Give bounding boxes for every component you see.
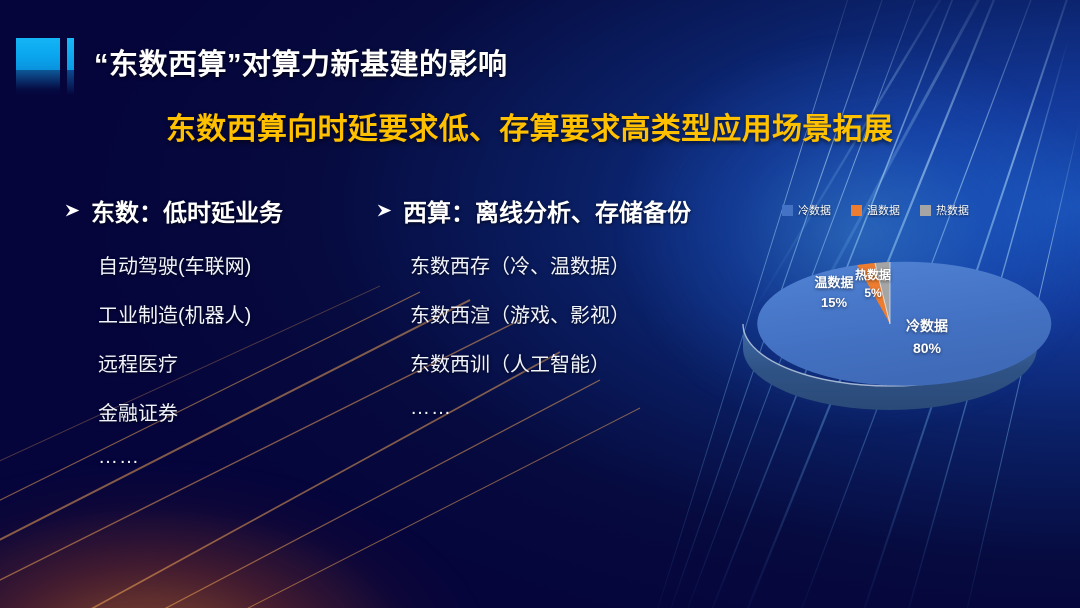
list-item: 东数西渲（游戏、影视） [410,299,746,328]
column-heading-text: 西算：离线分析、存储备份 [403,193,691,228]
presentation-slide: “东数西算”对算力新基建的影响 东数西算向时延要求低、存算要求高类型应用场景拓展… [0,0,1080,608]
list-item: 工业制造(机器人) [98,299,374,328]
content-column-xisuan: 西算：离线分析、存储备份 东数西存（冷、温数据） 东数西渲（游戏、影视） 东数西… [376,193,746,440]
legend-item-hot: 热数据 [920,202,969,218]
legend-label: 冷数据 [798,202,831,218]
arrow-bullet-icon [376,202,393,219]
list-item: 东数西训（人工智能） [410,348,746,377]
legend-swatch-icon [782,205,793,216]
page-title: “东数西算”对算力新基建的影响 [94,41,508,83]
legend-label: 热数据 [936,202,969,218]
list-item: 东数西存（冷、温数据） [410,250,746,279]
legend-item-cold: 冷数据 [782,202,831,218]
legend-label: 温数据 [867,202,900,218]
content-column-dongshu: 东数：低时延业务 自动驾驶(车联网) 工业制造(机器人) 远程医疗 金融证券 …… [64,193,374,489]
logo-square-reflection [16,70,60,96]
list-item: 远程医疗 [98,348,374,377]
legend-swatch-icon [920,205,931,216]
logo-mark [16,38,80,98]
chart-legend: 冷数据 温数据 热数据 [782,202,969,218]
legend-item-warm: 温数据 [851,202,900,218]
column-heading-xisuan: 西算：离线分析、存储备份 [376,193,746,228]
pie-slice-cold [757,262,1051,386]
column-heading-text: 东数：低时延业务 [91,193,283,228]
logo-square-icon [16,38,60,70]
logo-bar-icon [67,38,74,70]
list-item-ellipsis: …… [98,446,374,469]
logo-bar-reflection [67,70,74,95]
list-item: 金融证券 [98,397,374,426]
page-subtitle: 东数西算向时延要求低、存算要求高类型应用场景拓展 [166,104,893,148]
list-item-ellipsis: …… [410,397,746,420]
legend-swatch-icon [851,205,862,216]
list-item: 自动驾驶(车联网) [98,250,374,279]
column-heading-dongshu: 东数：低时延业务 [64,193,374,228]
arrow-bullet-icon [64,202,81,219]
pie-chart [735,238,1045,418]
